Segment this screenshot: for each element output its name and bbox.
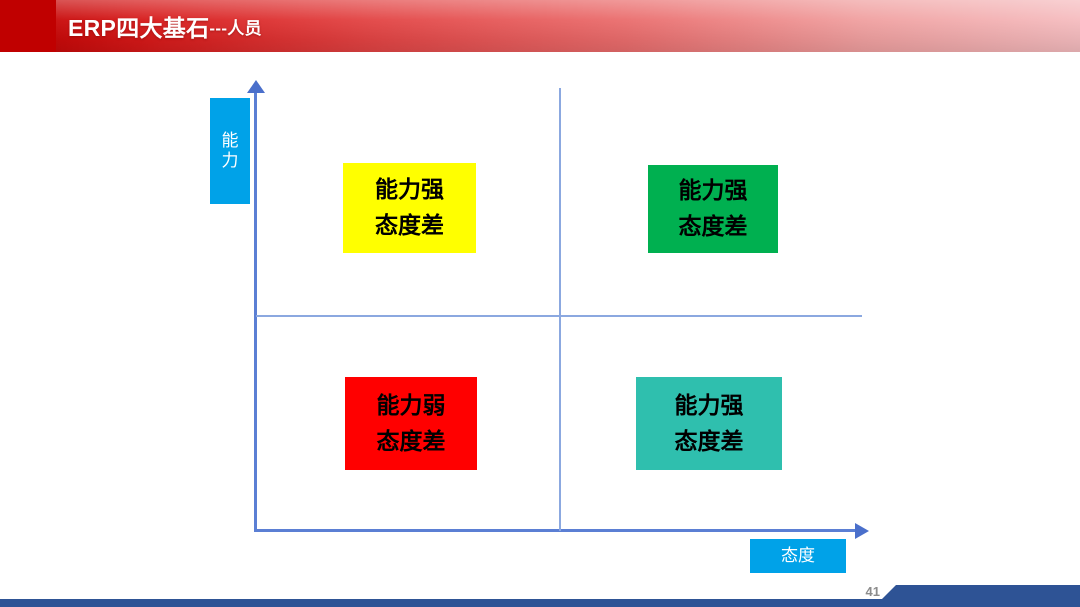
quadrant-bl-line2: 态度差	[377, 424, 446, 460]
y-axis-label-line2: 力	[222, 151, 239, 171]
y-axis-arrow-icon	[247, 80, 265, 93]
page-title: ERP四大基石---人员	[68, 0, 262, 52]
quadrant-box-top-left: 能力强 态度差	[343, 163, 476, 253]
slide-canvas: ERP四大基石---人员 能 力 态度 能力强 态度差 能力强 态度差 能力弱 …	[0, 0, 1080, 607]
x-axis-label: 态度	[750, 539, 846, 573]
quadrant-br-line2: 态度差	[675, 424, 744, 460]
y-axis-label: 能 力	[210, 98, 250, 204]
quadrant-box-top-right: 能力强 态度差	[648, 165, 778, 253]
x-axis-arrow-icon	[855, 523, 869, 539]
quadrant-box-bottom-right: 能力强 态度差	[636, 377, 782, 470]
y-axis-line	[254, 88, 257, 532]
quadrant-vertical-divider	[559, 88, 561, 531]
header-left-accent-block	[0, 0, 56, 52]
quadrant-box-bottom-left: 能力弱 态度差	[345, 377, 477, 470]
page-number: 41	[852, 584, 880, 599]
quadrant-bl-line1: 能力弱	[377, 388, 446, 424]
quadrant-tr-line2: 态度差	[679, 209, 748, 245]
x-axis-line	[254, 529, 859, 532]
page-title-sub: ---人员	[209, 14, 261, 39]
footer-bar	[0, 599, 1080, 607]
quadrant-tl-line1: 能力强	[375, 172, 444, 208]
quadrant-tr-line1: 能力强	[679, 173, 748, 209]
quadrant-br-line1: 能力强	[675, 388, 744, 424]
quadrant-tl-line2: 态度差	[375, 208, 444, 244]
y-axis-label-line1: 能	[222, 131, 239, 151]
slide-header: ERP四大基石---人员	[0, 0, 1080, 52]
page-title-main: ERP四大基石	[68, 9, 209, 43]
quadrant-chart: 能 力 态度 能力强 态度差 能力强 态度差 能力弱 态度差 能力强 态度差	[0, 52, 1080, 577]
